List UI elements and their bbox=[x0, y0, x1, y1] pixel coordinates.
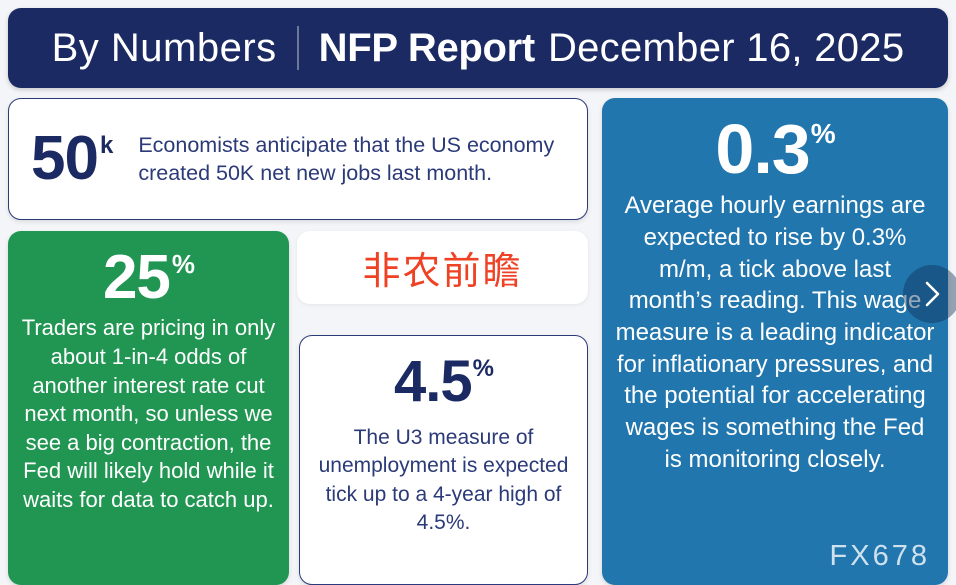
jobs-stat: 50k bbox=[31, 128, 112, 190]
watermark: FX678 bbox=[830, 540, 930, 573]
header-title-group: By Numbers NFP Report December 16, 2025 bbox=[52, 26, 905, 71]
rate-cut-odds-stat: 25% bbox=[103, 243, 194, 312]
card-chinese-title: 非农前瞻 bbox=[297, 231, 588, 304]
header-bar: By Numbers NFP Report December 16, 2025 bbox=[8, 8, 948, 88]
rate-cut-odds-unit: % bbox=[172, 251, 194, 277]
brand-label: By Numbers bbox=[52, 26, 277, 71]
report-label: NFP Report bbox=[319, 26, 535, 71]
chevron-right-icon bbox=[920, 279, 944, 309]
jobs-description: Economists anticipate that the US econom… bbox=[138, 131, 573, 188]
earnings-unit: % bbox=[811, 120, 835, 148]
next-slide-button[interactable] bbox=[903, 265, 956, 323]
unemployment-stat: 4.5% bbox=[394, 350, 493, 414]
jobs-stat-unit: k bbox=[100, 134, 112, 158]
unemployment-value: 4.5 bbox=[394, 350, 472, 414]
report-date: December 16, 2025 bbox=[548, 26, 904, 71]
rate-cut-odds-value: 25 bbox=[103, 243, 170, 312]
card-jobs: 50k Economists anticipate that the US ec… bbox=[8, 98, 588, 220]
card-unemployment: 4.5% The U3 measure of unemployment is e… bbox=[299, 335, 588, 585]
earnings-description: Average hourly earnings are expected to … bbox=[614, 190, 936, 475]
header-divider bbox=[297, 26, 299, 70]
card-rate-cut-odds: 25% Traders are pricing in only about 1-… bbox=[8, 231, 289, 585]
chinese-title-text: 非农前瞻 bbox=[362, 240, 522, 295]
earnings-stat: 0.3% bbox=[715, 110, 834, 188]
card-earnings: 0.3% Average hourly earnings are expecte… bbox=[602, 98, 948, 585]
jobs-stat-value: 50 bbox=[31, 128, 98, 190]
rate-cut-odds-description: Traders are pricing in only about 1-in-4… bbox=[18, 314, 279, 514]
unemployment-description: The U3 measure of unemployment is expect… bbox=[314, 424, 573, 538]
earnings-value: 0.3 bbox=[715, 110, 809, 188]
unemployment-unit: % bbox=[473, 357, 493, 381]
